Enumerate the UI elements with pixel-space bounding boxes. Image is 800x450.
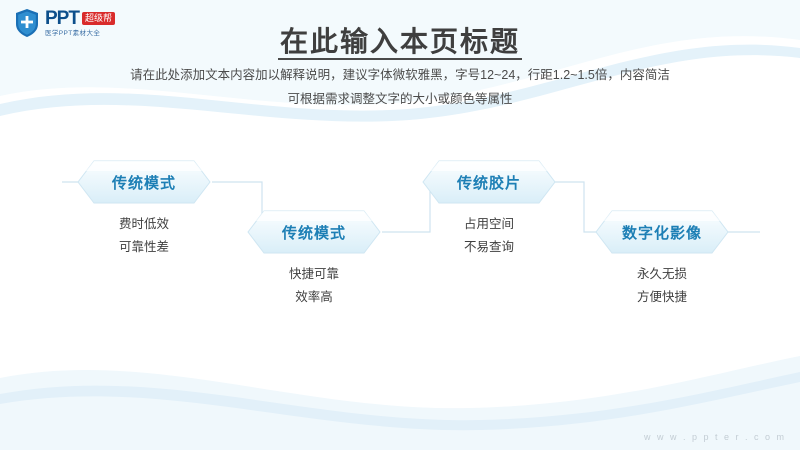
- subtitle-line-2: 可根据需求调整文字的大小或颜色等属性: [0, 88, 800, 112]
- diagram-node-4[interactable]: 数字化影像 永久无损 方便快捷: [594, 209, 730, 309]
- diagram-node-4-lines: 永久无损 方便快捷: [594, 263, 730, 309]
- watermark: w w w . p p t e r . c o m: [644, 432, 786, 442]
- diagram-node-1-label: 传统模式: [76, 159, 212, 205]
- diagram-node-3-line-1: 占用空间: [421, 213, 557, 236]
- diagram-node-3-label: 传统胶片: [421, 159, 557, 205]
- diagram-node-3-line-2: 不易查询: [421, 236, 557, 259]
- diagram-node-4-line-2: 方便快捷: [594, 286, 730, 309]
- subtitle-line-1: 请在此处添加文本内容加以解释说明，建议字体微软雅黑，字号12~24，行距1.2~…: [0, 64, 800, 88]
- page-subtitle: 请在此处添加文本内容加以解释说明，建议字体微软雅黑，字号12~24，行距1.2~…: [0, 64, 800, 112]
- diagram-node-2-line-2: 效率高: [246, 286, 382, 309]
- diagram-node-1[interactable]: 传统模式 费时低效 可靠性差: [76, 159, 212, 259]
- diagram-node-1-line-2: 可靠性差: [76, 236, 212, 259]
- diagram-node-1-lines: 费时低效 可靠性差: [76, 213, 212, 259]
- process-diagram: 传统模式 费时低效 可靠性差 传统模式 快捷可靠 效率高: [0, 140, 800, 370]
- diagram-node-4-label: 数字化影像: [594, 209, 730, 255]
- diagram-node-3-lines: 占用空间 不易查询: [421, 213, 557, 259]
- diagram-node-2-lines: 快捷可靠 效率高: [246, 263, 382, 309]
- diagram-node-2-label: 传统模式: [246, 209, 382, 255]
- diagram-node-3[interactable]: 传统胶片 占用空间 不易查询: [421, 159, 557, 259]
- diagram-node-4-line-1: 永久无损: [594, 263, 730, 286]
- diagram-node-2-line-1: 快捷可靠: [246, 263, 382, 286]
- page-title: 在此输入本页标题: [0, 20, 800, 60]
- diagram-node-2[interactable]: 传统模式 快捷可靠 效率高: [246, 209, 382, 309]
- title-underline: [278, 58, 522, 60]
- diagram-node-1-line-1: 费时低效: [76, 213, 212, 236]
